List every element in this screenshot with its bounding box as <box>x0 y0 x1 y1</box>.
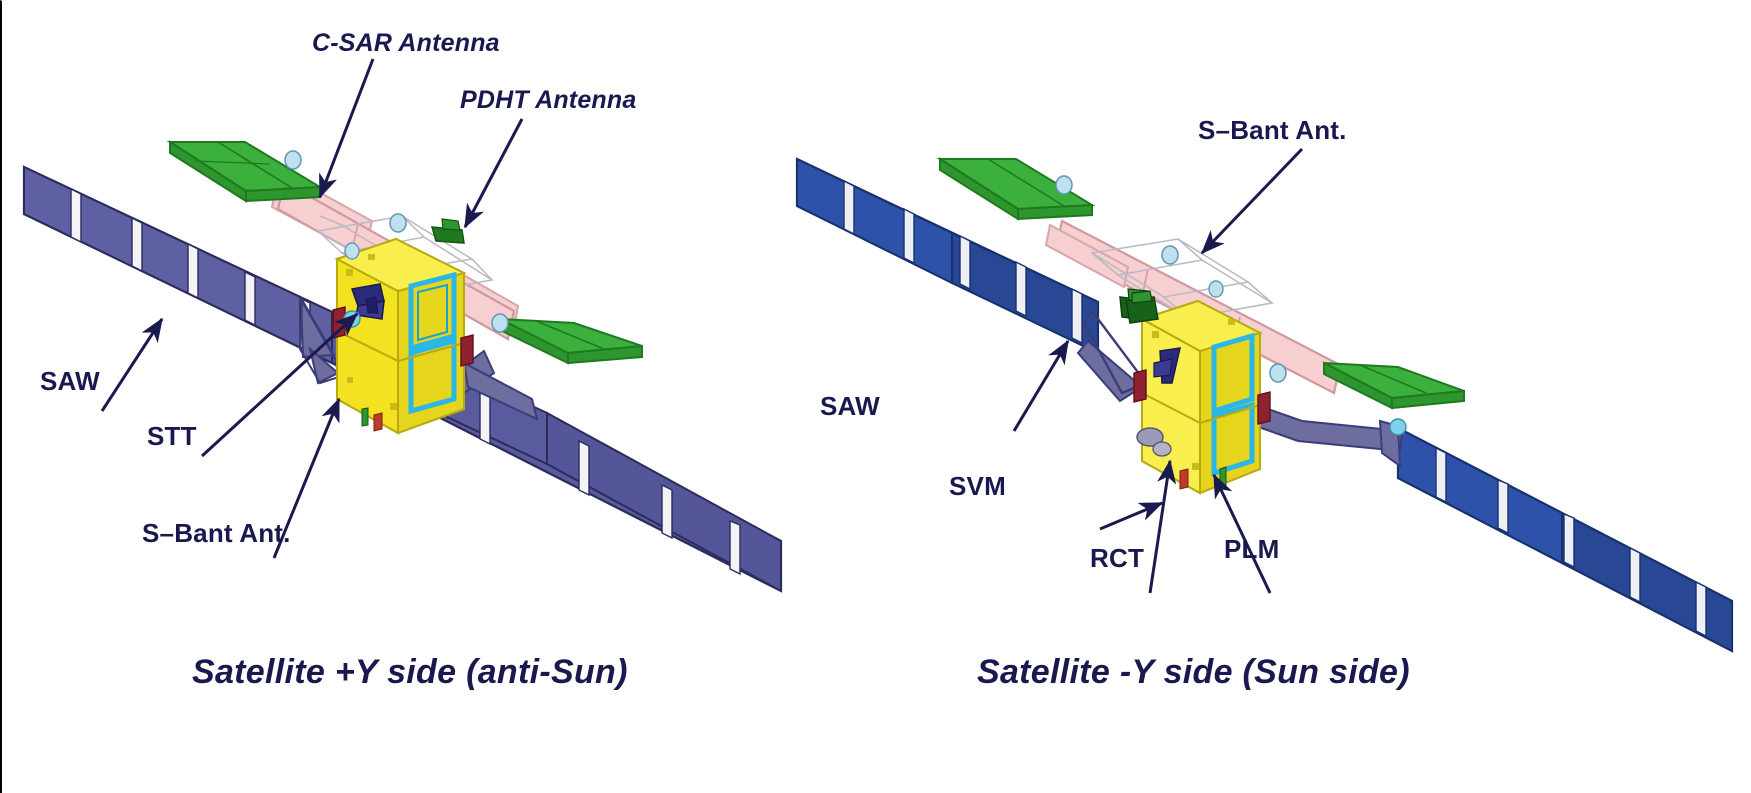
caption-left-panel: Satellite +Y side (anti-Sun) <box>192 653 628 692</box>
label-pdht-antenna: PDHT Antenna <box>460 86 636 115</box>
right-saw-lower-wing <box>1398 428 1732 651</box>
label-right-plm: PLM <box>1224 534 1279 565</box>
label-left-s-band-antenna: S–Bant Ant. <box>142 518 291 549</box>
label-left-stt: STT <box>147 421 197 452</box>
caption-right-panel: Satellite -Y side (Sun side) <box>977 653 1410 692</box>
left-satellite-model <box>24 59 781 591</box>
label-c-sar-antenna: C-SAR Antenna <box>312 29 500 58</box>
label-left-saw: SAW <box>40 366 100 397</box>
left-pdht-antenna <box>432 219 464 243</box>
label-right-rct: RCT <box>1090 543 1144 574</box>
label-right-saw: SAW <box>820 391 880 422</box>
label-right-s-band-antenna: S–Bant Ant. <box>1198 115 1347 146</box>
left-satellite-body <box>333 239 473 433</box>
right-satellite-model <box>797 149 1732 651</box>
satellite-configuration-figure: C-SAR Antenna PDHT Antenna SAW STT S–Ban… <box>0 0 1751 793</box>
label-right-svm: SVM <box>949 471 1006 502</box>
